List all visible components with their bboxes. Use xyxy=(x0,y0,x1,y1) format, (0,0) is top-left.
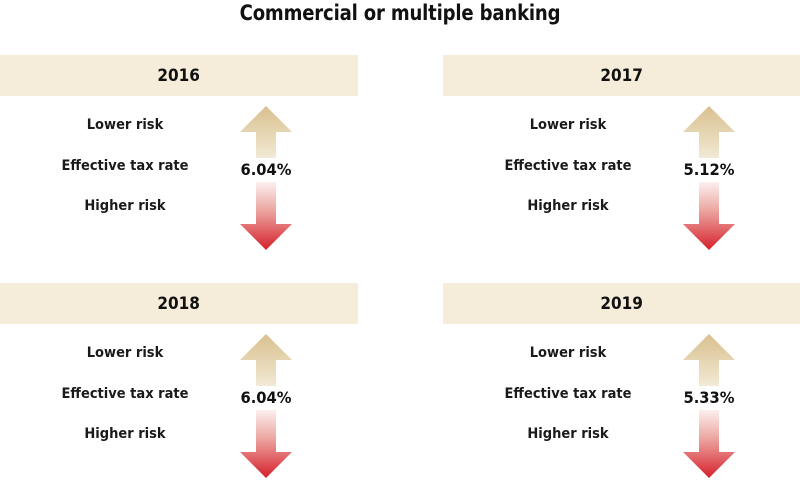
risk-arrow-group: 6.04% xyxy=(236,332,296,480)
effective-tax-rate-value: 6.04% xyxy=(211,390,321,406)
panel-2018: 2018 Lower risk Effective tax rate Highe… xyxy=(0,283,358,483)
lower-risk-label: Lower risk xyxy=(40,118,211,133)
metric-label: Effective tax rate xyxy=(40,159,211,174)
lower-risk-label: Lower risk xyxy=(40,346,211,361)
risk-label-group: Lower risk Effective tax rate Higher ris… xyxy=(30,346,220,442)
panel-year-label: 2016 xyxy=(158,66,201,86)
effective-tax-rate-value: 5.12% xyxy=(654,162,764,178)
metric-label: Effective tax rate xyxy=(483,159,654,174)
risk-label-group: Lower risk Effective tax rate Higher ris… xyxy=(30,118,220,214)
higher-risk-label: Higher risk xyxy=(40,199,211,214)
risk-arrow-group: 6.04% xyxy=(236,104,296,252)
page-title: Commercial or multiple banking xyxy=(56,1,744,25)
panel-2019: 2019 Lower risk Effective tax rate Highe… xyxy=(443,283,800,483)
panel-2016: 2016 Lower risk Effective tax rate Highe… xyxy=(0,55,358,255)
panel-year-label: 2019 xyxy=(600,294,643,314)
panel-header: 2017 xyxy=(443,55,800,96)
panel-body: Lower risk Effective tax rate Higher ris… xyxy=(0,324,358,483)
risk-arrow-group: 5.12% xyxy=(679,104,739,252)
higher-risk-label: Higher risk xyxy=(483,199,654,214)
lower-risk-label: Lower risk xyxy=(483,346,654,361)
panel-header: 2016 xyxy=(0,55,358,96)
panel-year-label: 2017 xyxy=(600,66,643,86)
higher-risk-label: Higher risk xyxy=(40,427,211,442)
panel-body: Lower risk Effective tax rate Higher ris… xyxy=(443,324,800,483)
risk-label-group: Lower risk Effective tax rate Higher ris… xyxy=(473,346,663,442)
risk-label-group: Lower risk Effective tax rate Higher ris… xyxy=(473,118,663,214)
panel-2017: 2017 Lower risk Effective tax rate Highe… xyxy=(443,55,800,255)
panel-year-label: 2018 xyxy=(158,294,201,314)
effective-tax-rate-value: 6.04% xyxy=(211,162,321,178)
metric-label: Effective tax rate xyxy=(483,387,654,402)
higher-risk-label: Higher risk xyxy=(483,427,654,442)
risk-arrow-group: 5.33% xyxy=(679,332,739,480)
panel-header: 2018 xyxy=(0,283,358,324)
lower-risk-label: Lower risk xyxy=(483,118,654,133)
effective-tax-rate-value: 5.33% xyxy=(654,390,764,406)
panel-body: Lower risk Effective tax rate Higher ris… xyxy=(0,96,358,255)
metric-label: Effective tax rate xyxy=(40,387,211,402)
panel-body: Lower risk Effective tax rate Higher ris… xyxy=(443,96,800,255)
panel-header: 2019 xyxy=(443,283,800,324)
panel-grid: 2016 Lower risk Effective tax rate Highe… xyxy=(0,55,800,470)
